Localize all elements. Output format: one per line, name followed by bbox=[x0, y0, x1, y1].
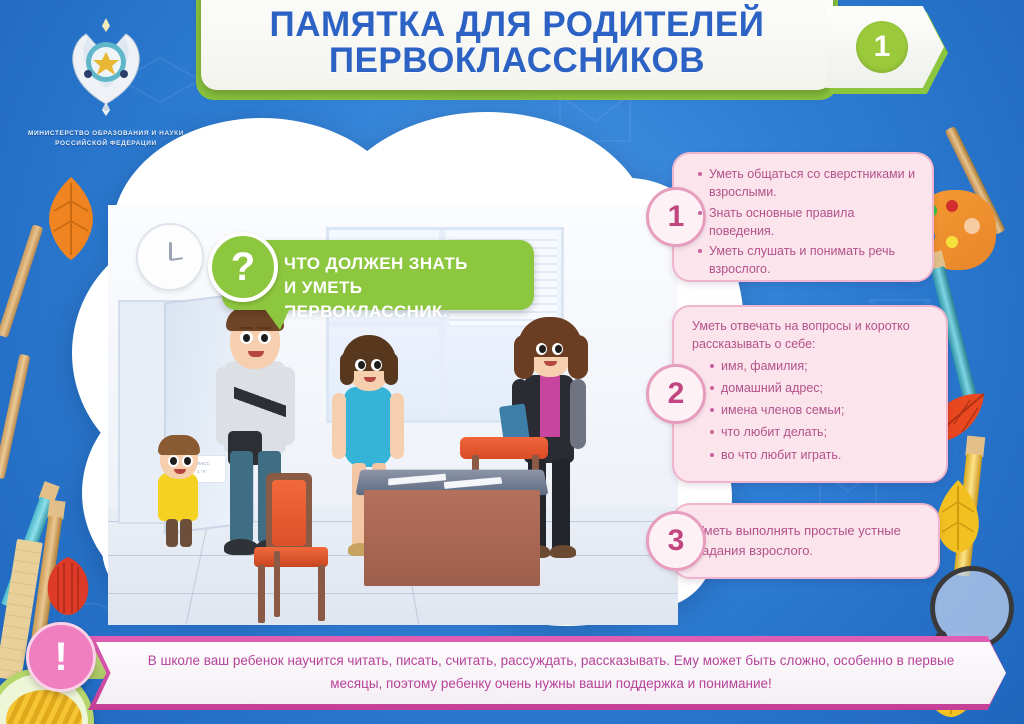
list-item: Уметь общаться со сверстниками и взрослы… bbox=[696, 165, 920, 202]
card-1-list: Уметь общаться со сверстниками и взрослы… bbox=[696, 165, 920, 279]
ministry-emblem-icon bbox=[62, 14, 150, 118]
question-mark-icon: ? bbox=[208, 232, 278, 302]
bubble-line-2: И УМЕТЬ ПЕРВОКЛАССНИК. bbox=[284, 276, 524, 324]
page-number-badge: 1 bbox=[856, 21, 908, 73]
exclamation-icon: ! bbox=[26, 622, 96, 692]
card-2-lead: Уметь отвечать на вопросы и коротко расс… bbox=[692, 318, 936, 354]
footer-banner-text: В школе ваш ребенок научится читать, пис… bbox=[96, 650, 1006, 696]
title-card: ПАМЯТКА ДЛЯ РОДИТЕЛЕЙ ПЕРВОКЛАССНИКОВ bbox=[201, 0, 833, 90]
info-card-3: 3 Уметь выполнять простые устные задания… bbox=[672, 503, 940, 579]
page-number-tab: 1 bbox=[826, 6, 944, 88]
chair-seat bbox=[254, 547, 328, 567]
card-3-text: Уметь выполнять простые устные задания в… bbox=[696, 521, 926, 560]
card-number-badge: 2 bbox=[646, 364, 706, 424]
classroom-chair bbox=[266, 473, 312, 553]
list-item: что любит делать; bbox=[708, 423, 936, 441]
character-boy bbox=[148, 435, 208, 547]
title-line-2: ПЕРВОКЛАССНИКОВ bbox=[270, 43, 765, 79]
wall-clock-icon bbox=[136, 223, 204, 291]
list-item: Уметь слушать и понимать речь взрослого. bbox=[696, 242, 920, 279]
title-line-1: ПАМЯТКА ДЛЯ РОДИТЕЛЕЙ bbox=[270, 5, 765, 44]
card-2-list: имя, фамилия; домашний адрес; имена член… bbox=[708, 357, 936, 464]
question-bubble: ? ЧТО ДОЛЖЕН ЗНАТЬ И УМЕТЬ ПЕРВОКЛАССНИК… bbox=[222, 240, 534, 310]
info-card-1: 1 Уметь общаться со сверстниками и взрос… bbox=[672, 152, 934, 282]
poster-root: ПАМЯТКА ДЛЯ РОДИТЕЛЕЙ ПЕРВОКЛАССНИКОВ 1 … bbox=[0, 0, 1024, 724]
bubble-line-1: ЧТО ДОЛЖЕН ЗНАТЬ bbox=[284, 252, 524, 276]
list-item: имя, фамилия; bbox=[708, 357, 936, 375]
info-card-2: 2 Уметь отвечать на вопросы и коротко ра… bbox=[672, 305, 948, 483]
list-item: Знать основные правила поведения. bbox=[696, 204, 920, 241]
card-number-badge: 3 bbox=[646, 511, 706, 571]
teacher-desk bbox=[364, 490, 540, 586]
list-item: во что любит играть. bbox=[708, 446, 936, 464]
paintbrush-icon bbox=[0, 320, 40, 480]
list-item: имена членов семьи; bbox=[708, 401, 936, 419]
list-item: домашний адрес; bbox=[708, 379, 936, 397]
question-bubble-text: ЧТО ДОЛЖЕН ЗНАТЬ И УМЕТЬ ПЕРВОКЛАССНИК. bbox=[284, 252, 524, 324]
page-title: ПАМЯТКА ДЛЯ РОДИТЕЛЕЙ ПЕРВОКЛАССНИКОВ bbox=[270, 0, 765, 79]
footer-banner: В школе ваш ребенок научится читать, пис… bbox=[96, 642, 1006, 704]
